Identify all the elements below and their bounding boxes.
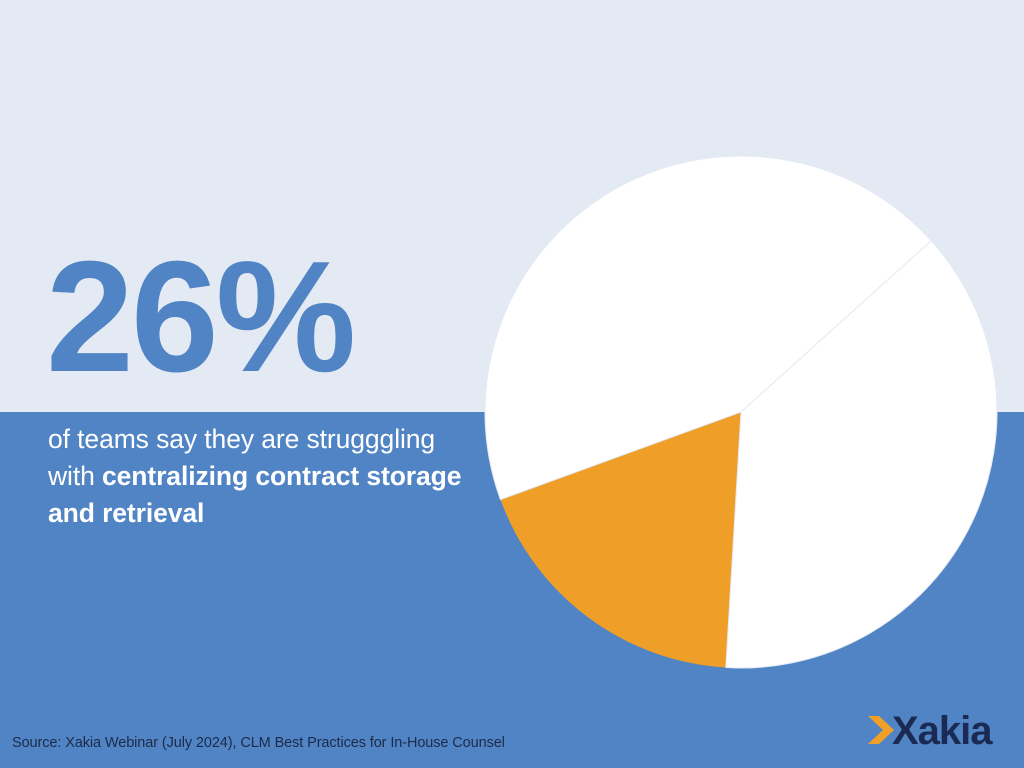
stat-percentage: 26% [46, 238, 353, 396]
xakia-wordmark: Xakia [892, 709, 993, 751]
xakia-logo[interactable]: Xakia [866, 709, 1012, 751]
xakia-logo-svg: Xakia [866, 709, 1012, 751]
pie-chart-svg [485, 156, 997, 668]
infographic-canvas: 26% of teams say they are strugggling wi… [0, 0, 1024, 768]
chevron-right-icon [868, 716, 894, 744]
pie-chart [485, 156, 997, 668]
source-note: Source: Xakia Webinar (July 2024), CLM B… [12, 735, 505, 751]
stat-caption: of teams say they are strugggling with c… [48, 421, 478, 532]
caption-emphasis-text: centralizing contract storage and retrie… [48, 461, 461, 528]
